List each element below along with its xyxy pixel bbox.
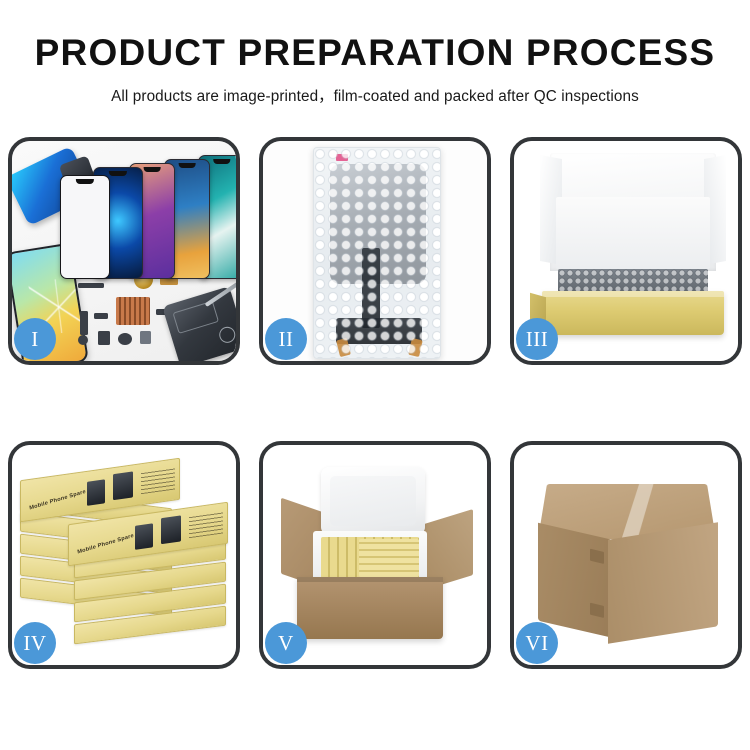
packing-tape-strip [621,484,653,539]
phone-notch-icon [144,167,161,172]
carton-left-face [538,523,610,638]
page-subtitle: All products are image-printed，film-coat… [0,84,750,106]
speaker-part [118,333,132,345]
process-step-panel-6[interactable]: VI [510,441,742,669]
phone-display-1-glass [60,175,110,279]
small-clip-part [94,313,108,319]
process-step-panel-3[interactable]: III [510,137,742,365]
product-preparation-page: PRODUCT PREPARATION PROCESS All products… [0,0,750,750]
step-badge-3: III [516,318,558,360]
phone-notch-icon [213,159,230,164]
page-header: PRODUCT PREPARATION PROCESS All products… [0,0,750,106]
spare-parts-scatter [78,269,236,361]
step-badge-2: II [265,318,307,360]
connector-part [80,311,88,335]
sim-tray-part [140,331,151,344]
box-spec-text-block-2 [189,511,223,538]
step-badge-5: V [265,622,307,664]
phone-notch-icon [109,171,127,176]
flex-cable-part [78,283,104,288]
process-step-panel-4[interactable]: Mobile Phone Spare Parts Mobile Phone Sp… [8,441,240,669]
phone-notch-icon [179,163,196,168]
box-art-phone-b-1 [113,471,133,500]
carton-front-panel [297,577,443,639]
box-spec-text-block-1 [141,467,175,494]
step-badge-4: IV [14,622,56,664]
foam-box-lid [321,467,425,535]
copper-grid-part [116,297,150,325]
kraft-box-base [542,291,724,335]
page-title: PRODUCT PREPARATION PROCESS [0,34,750,73]
screw-part [78,335,88,345]
button-part [98,331,110,345]
carton-notch-lower [590,603,604,618]
carton-notch-upper [590,549,604,564]
opened-phone-chassis [162,286,236,361]
carton-right-face [608,522,718,643]
phone-display-fan [60,149,236,279]
foam-insert [556,197,710,269]
process-step-panel-1[interactable]: I [8,137,240,365]
step-badge-6: VI [516,622,558,664]
bubble-wrap-bag [313,147,441,359]
process-step-panel-5[interactable]: V [259,441,491,669]
step-badge-1: I [14,318,56,360]
bubble-texture-overlay [314,148,440,358]
process-step-panel-2[interactable]: II [259,137,491,365]
process-steps-grid: I II [8,137,742,669]
box-art-phone-b-2 [161,515,181,544]
packed-retail-boxes-row-b [359,539,419,577]
phone-notch-icon [76,179,94,184]
box-art-phone-a-1 [87,479,105,506]
box-art-phone-a-2 [135,523,153,550]
